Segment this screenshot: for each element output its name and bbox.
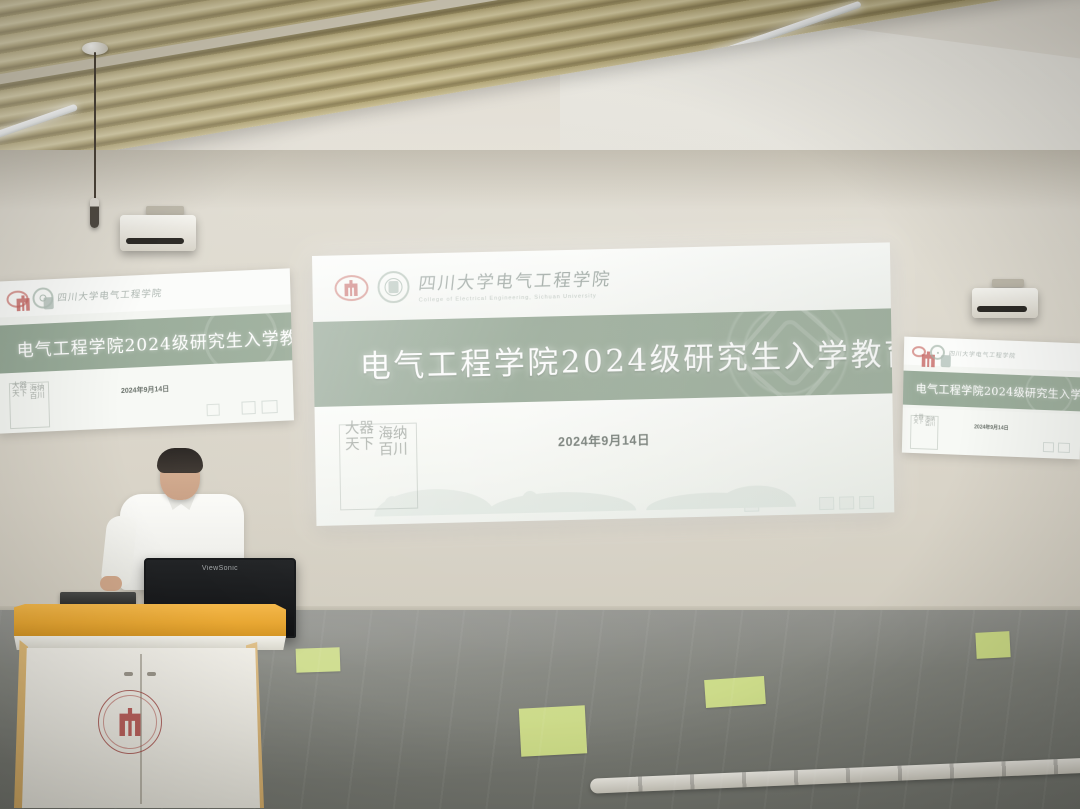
projector-left: [120, 215, 196, 251]
ss-left-calli-right: 海纳百川: [29, 383, 47, 426]
cabinet-handle-left[interactable]: [124, 672, 133, 676]
sichuan-university-seal-icon: [6, 290, 28, 308]
ss-left-date: 2024年9月14日: [121, 384, 169, 396]
ss-right-calli-left: 大器天下: [913, 415, 924, 447]
floor-marker-tape: [975, 631, 1010, 659]
slide-org-cn: 四川大学电气工程学院: [417, 265, 613, 295]
floor-marker-tape: [296, 647, 341, 673]
mic-cable: [94, 52, 96, 207]
ss-left-calli-left: 大器天下: [12, 381, 30, 427]
sichuan-university-seal-podium: [98, 690, 162, 754]
side-screen-left: 四川大学电气工程学院 电气工程学院2024级研究生入学教育 海纳百川 大器天下 …: [0, 268, 294, 433]
projector-mount-arm: [146, 206, 184, 215]
slide-title-band: 电气工程学院2024级研究生入学教育: [313, 308, 892, 407]
floor-marker-tape: [704, 676, 766, 708]
ss-right-org: 四川大学电气工程学院: [948, 348, 1016, 360]
wall-shadow: [0, 150, 1080, 210]
lectern-desk-lip: [14, 636, 286, 650]
sichuan-university-seal-icon-right: [912, 345, 926, 357]
speaker-hand: [100, 576, 122, 591]
ss-right-calli-right: 海纳百川: [924, 417, 935, 447]
cabinet-handle-right[interactable]: [147, 672, 156, 676]
lectern-group: ViewSonic: [14, 440, 294, 809]
main-projection-slide: 四川大学电气工程学院 College of Electrical Enginee…: [312, 242, 894, 526]
speaker-glasses: [164, 472, 196, 480]
monitor-brand-label: ViewSonic: [202, 565, 238, 572]
sichuan-university-seal-icon-main: [334, 275, 368, 302]
ss-left-org: 四川大学电气工程学院: [57, 285, 163, 304]
slide-lower-area: 海纳百川 大器天下 2024年9月14日: [315, 393, 895, 526]
projector-mount-arm-right: [992, 279, 1024, 287]
floor-cable-trunking: [590, 757, 1080, 793]
college-emblem-icon-main: [377, 271, 410, 304]
college-emblem-icon: [32, 287, 54, 309]
laptop-on-desk: [60, 592, 136, 606]
lecture-hall-photo: 16:07 1:36 四川大学电气工程学院 电气工程学院2024级研究生入学教育…: [0, 0, 1080, 809]
side-screen-right: 四川大学电气工程学院 电气工程学院2024级研究生入学教育 海纳百川 大器天下 …: [902, 337, 1080, 460]
projector-right: [972, 288, 1038, 318]
lectern-desktop: [14, 604, 286, 638]
microphone-icon: [90, 198, 99, 228]
college-emblem-icon-right: [930, 344, 945, 360]
floor-marker-tape: [519, 705, 587, 756]
slide-date: 2024年9月14日: [558, 429, 650, 450]
ss-right-date: 2024年9月14日: [974, 423, 1009, 431]
speaker-hair: [157, 448, 203, 473]
